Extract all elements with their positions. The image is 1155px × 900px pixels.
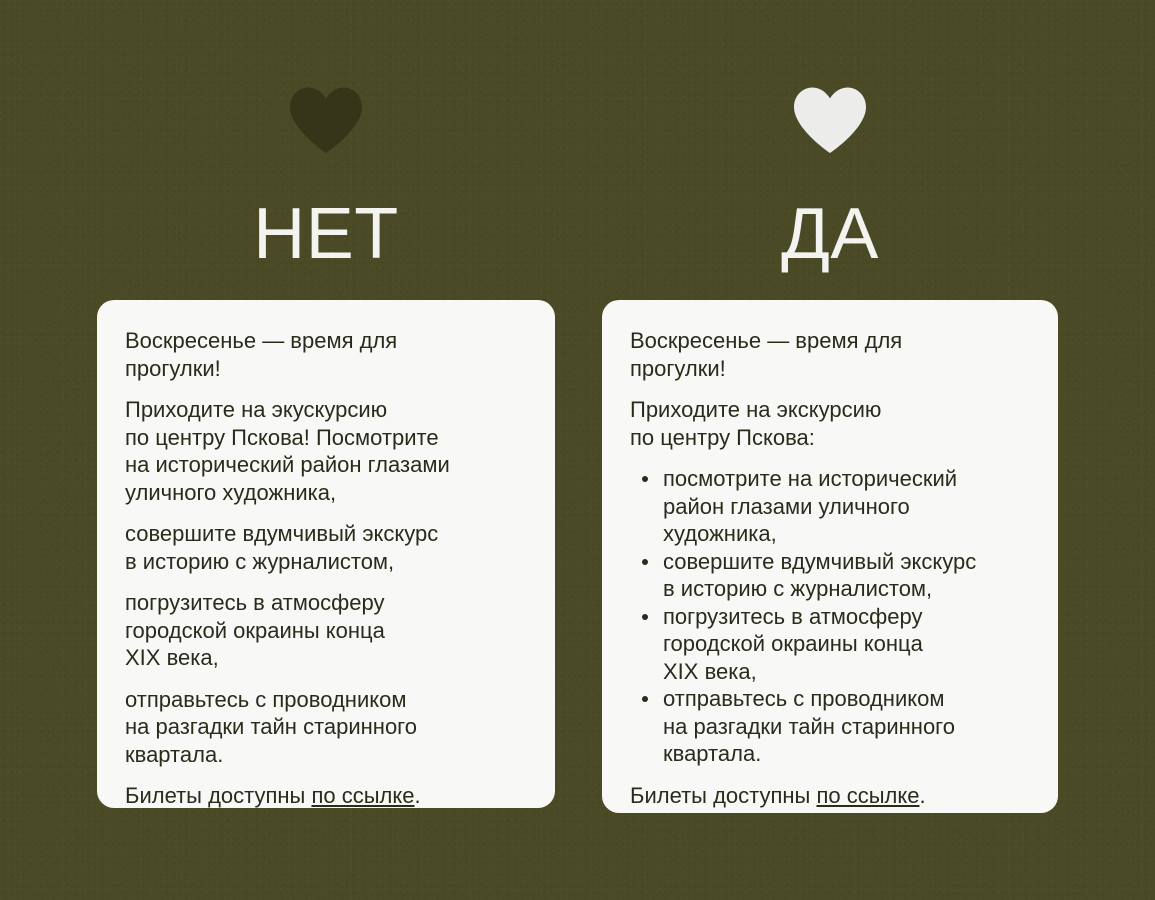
heart-icon [288, 86, 364, 154]
bullet-icon [642, 614, 648, 620]
negative-example-card: Воскресенье — время для прогулки! Приход… [97, 300, 555, 808]
card-text-line: Воскресенье — время для [125, 327, 527, 355]
tickets-footer: Билеты доступны по ссылке. [630, 782, 1030, 810]
card-text-line: уличного художника, [125, 479, 527, 507]
card-paragraph: Приходите на экскурсию по центру Пскова: [630, 396, 1030, 451]
tickets-footer-prefix: Билеты доступны [630, 783, 816, 808]
comparison-board: НЕТ Воскресенье — время для прогулки! Пр… [0, 0, 1155, 900]
card-text-line: Воскресенье — время для [630, 327, 1030, 355]
card-text-line: в историю с журналистом, [663, 575, 1030, 603]
heart-icon-positive-wrap [602, 82, 1058, 158]
tickets-link[interactable]: по ссылке [311, 783, 414, 808]
card-text-line: квартала. [663, 740, 1030, 768]
list-item: совершите вдумчивый экскурс в историю с … [663, 548, 1030, 603]
list-item: отправьтесь с проводником на разгадки та… [663, 685, 1030, 768]
list-item: посмотрите на исторический район глазами… [663, 465, 1030, 548]
card-text-line: художника, [663, 520, 1030, 548]
card-text-line: городской окраины конца [663, 630, 1030, 658]
bullet-icon [642, 476, 648, 482]
tickets-footer-suffix: . [919, 783, 925, 808]
card-text-line: квартала. [125, 741, 527, 769]
card-text-line: отправьтесь с проводником [663, 685, 1030, 713]
card-paragraph: Воскресенье — время для прогулки! [125, 327, 527, 382]
card-text-line: совершите вдумчивый экскурс [125, 520, 527, 548]
card-text-line: на исторический район глазами [125, 451, 527, 479]
verdict-label-positive: ДА [602, 196, 1058, 272]
card-text-line: на разгадки тайн старинного [663, 713, 1030, 741]
verdict-label-negative: НЕТ [97, 196, 555, 272]
bullet-icon [642, 696, 648, 702]
heart-icon-negative-wrap [97, 82, 555, 158]
card-text-line: XIX века, [125, 644, 527, 672]
card-text-line: посмотрите на исторический [663, 465, 1030, 493]
tickets-link[interactable]: по ссылке [816, 783, 919, 808]
list-item: погрузитесь в атмосферу городской окраин… [663, 603, 1030, 686]
card-text-line: Приходите на экускурсию [125, 396, 527, 424]
card-text-line: отправьтесь с проводником [125, 686, 527, 714]
card-text-line: прогулки! [630, 355, 1030, 383]
bullet-icon [642, 559, 648, 565]
card-paragraph: Приходите на экускурсию по центру Пскова… [125, 396, 527, 506]
negative-example-column: НЕТ Воскресенье — время для прогулки! Пр… [97, 0, 555, 900]
card-text-line: XIX века, [663, 658, 1030, 686]
card-text-line: погрузитесь в атмосферу [663, 603, 1030, 631]
card-paragraph: Воскресенье — время для прогулки! [630, 327, 1030, 382]
card-text-line: в историю с журналистом, [125, 548, 527, 576]
card-text-line: по центру Пскова: [630, 424, 1030, 452]
positive-example-card: Воскресенье — время для прогулки! Приход… [602, 300, 1058, 813]
card-paragraph: отправьтесь с проводником на разгадки та… [125, 686, 527, 769]
card-text-line: на разгадки тайн старинного [125, 713, 527, 741]
tickets-footer-suffix: . [414, 783, 420, 808]
card-text-line: прогулки! [125, 355, 527, 383]
card-text-line: по центру Пскова! Посмотрите [125, 424, 527, 452]
card-paragraph: погрузитесь в атмосферу городской окраин… [125, 589, 527, 672]
card-text-line: городской окраины конца [125, 617, 527, 645]
card-paragraph: совершите вдумчивый экскурс в историю с … [125, 520, 527, 575]
tickets-footer: Билеты доступны по ссылке. [125, 782, 527, 810]
card-text-line: Приходите на экскурсию [630, 396, 1030, 424]
card-text-line: погрузитесь в атмосферу [125, 589, 527, 617]
card-text-line: район глазами уличного [663, 493, 1030, 521]
tickets-footer-prefix: Билеты доступны [125, 783, 311, 808]
benefits-list: посмотрите на исторический район глазами… [630, 465, 1030, 768]
card-text-line: совершите вдумчивый экскурс [663, 548, 1030, 576]
positive-example-column: ДА Воскресенье — время для прогулки! При… [602, 0, 1058, 900]
heart-icon [792, 86, 868, 154]
